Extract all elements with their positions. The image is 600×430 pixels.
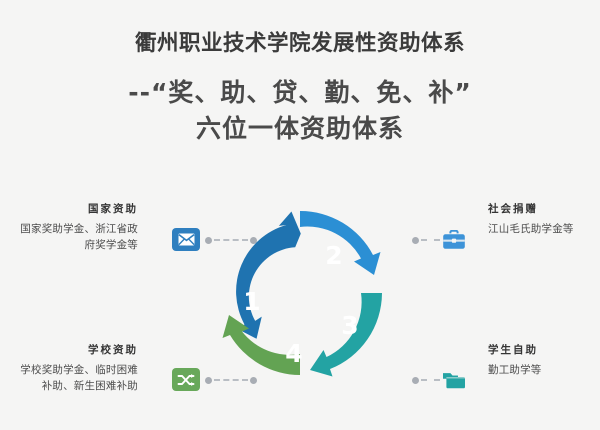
funding-system-diagram: 国家资助 国家奖助学金、浙江省政府奖学金等 学校资助 学校奖助学金、临时困难补助…: [0, 195, 600, 430]
info-title-social: 社会捐赠: [488, 202, 600, 218]
briefcase-icon: [440, 227, 468, 253]
cycle-number-3: 3: [341, 311, 358, 340]
cycle-segment-1: [226, 211, 311, 341]
page-title: 衢州职业技术学院发展性资助体系: [0, 0, 600, 57]
connector-dot: [205, 237, 212, 244]
cycle-number-4: 4: [285, 339, 302, 368]
info-body-school: 学校奖助学金、临时困难补助、新生困难补助: [12, 362, 138, 395]
cycle-number-2: 2: [325, 241, 342, 270]
info-title-school: 学校资助: [12, 343, 138, 359]
connector-self: [412, 376, 442, 384]
info-block-school: 学校资助 学校奖助学金、临时困难补助、新生困难补助: [12, 343, 138, 394]
connector-dot: [205, 377, 212, 384]
info-body-national: 国家奖助学金、浙江省政府奖学金等: [12, 221, 138, 254]
connector-social: [412, 236, 442, 244]
connector-dot: [412, 237, 419, 244]
cycle-number-1: 1: [243, 287, 260, 316]
info-block-social: 社会捐赠 江山毛氏助学金等: [488, 202, 600, 237]
info-title-national: 国家资助: [12, 202, 138, 218]
envelope-icon: [172, 228, 200, 251]
info-block-national: 国家资助 国家奖助学金、浙江省政府奖学金等: [12, 202, 138, 253]
subtitle-line-1: --“奖、助、贷、勤、免、补”: [0, 75, 600, 111]
info-body-social: 江山毛氏助学金等: [488, 221, 600, 237]
info-block-self: 学生自助 勤工助学等: [488, 343, 600, 378]
cycle-diagram: 1 2 3 4: [212, 205, 388, 381]
connector-dash: [421, 379, 440, 381]
page-subtitle: --“奖、助、贷、勤、免、补” 六位一体资助体系: [0, 57, 600, 148]
connector-dash: [421, 239, 440, 241]
folder-icon: [440, 367, 468, 393]
info-body-self: 勤工助学等: [488, 362, 600, 378]
connector-dot: [412, 377, 419, 384]
subtitle-line-2: 六位一体资助体系: [0, 111, 600, 147]
title-block: 衢州职业技术学院发展性资助体系 --“奖、助、贷、勤、免、补” 六位一体资助体系: [0, 0, 600, 147]
shuffle-icon: [172, 368, 200, 391]
info-title-self: 学生自助: [488, 343, 600, 359]
